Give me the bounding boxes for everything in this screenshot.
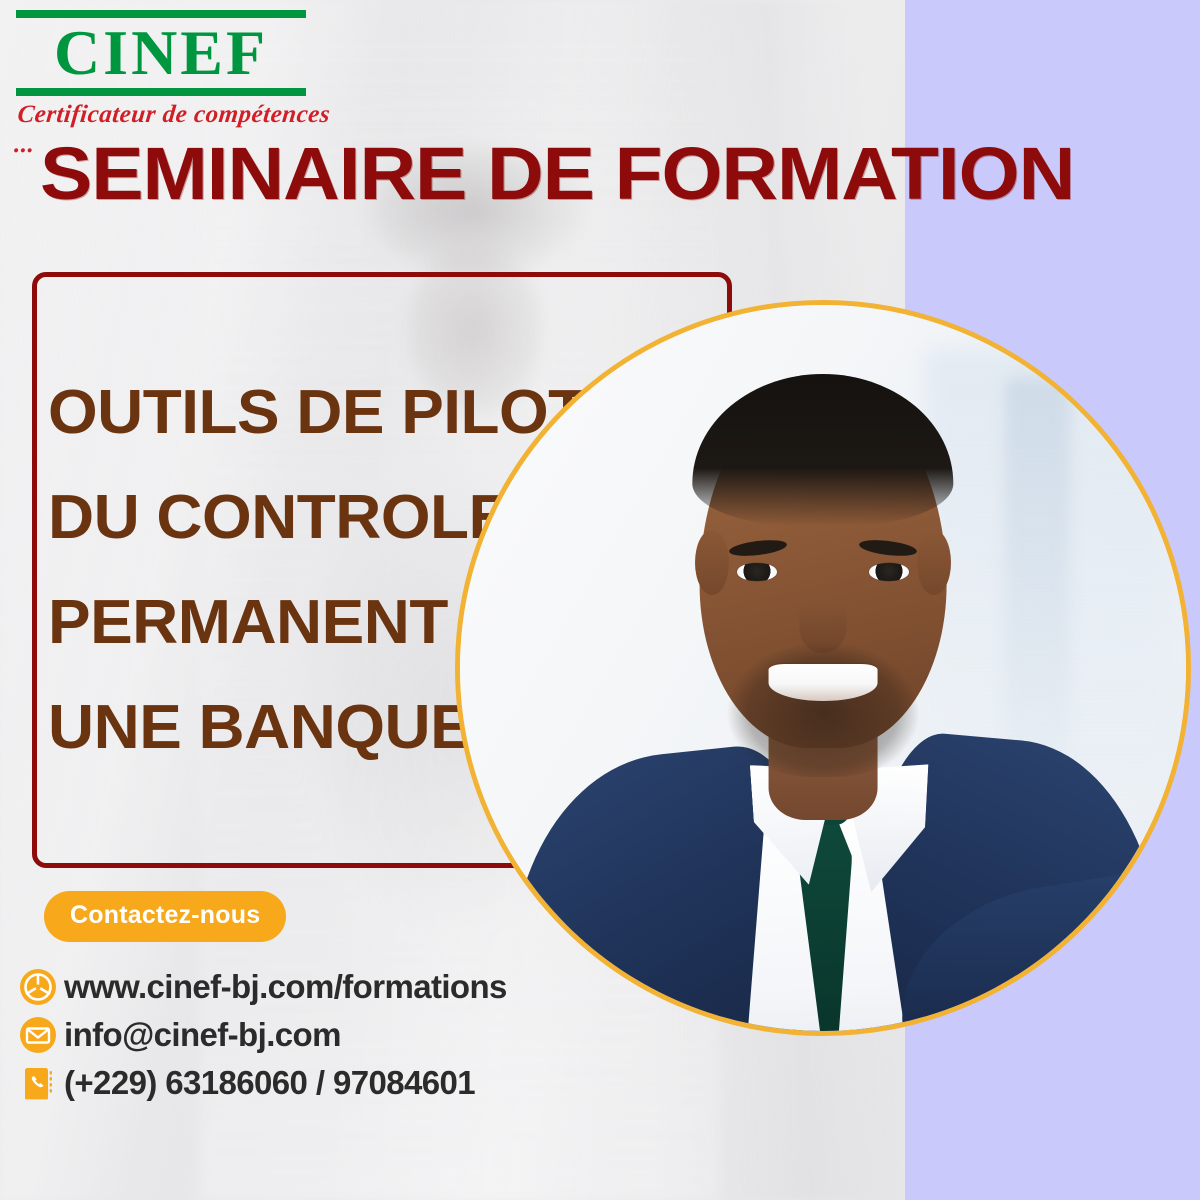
logo-wordmark: CINEF — [16, 20, 306, 86]
contact-email-text: info@cinef-bj.com — [64, 1016, 341, 1054]
speaker-photo-inner — [460, 305, 1186, 1031]
poster-canvas: CINEF Certificateur de compétences ... S… — [0, 0, 1200, 1200]
contact-row-phone[interactable]: (+229) 63186060 / 97084601 — [18, 1059, 638, 1107]
speaker-photo — [455, 300, 1191, 1036]
contact-list: www.cinef-bj.com/formations info@cinef-b… — [18, 963, 638, 1107]
contact-cta-button[interactable]: Contactez-nous — [44, 891, 286, 942]
photo-ear-right — [917, 530, 950, 595]
contact-row-email[interactable]: info@cinef-bj.com — [18, 1011, 638, 1059]
envelope-icon — [18, 1015, 58, 1055]
contact-phone-text: (+229) 63186060 / 97084601 — [64, 1064, 475, 1102]
logo-bar-bottom — [16, 88, 306, 96]
page-title: SEMINAIRE DE FORMATION — [40, 137, 1200, 211]
contact-row-website[interactable]: www.cinef-bj.com/formations — [18, 963, 638, 1011]
photo-eye-left — [737, 563, 776, 580]
globe-icon — [18, 967, 58, 1007]
photo-eye-right — [869, 563, 908, 580]
contact-website-text: www.cinef-bj.com/formations — [64, 968, 507, 1006]
photo-ear-left — [695, 530, 728, 595]
phonebook-icon — [18, 1063, 58, 1103]
